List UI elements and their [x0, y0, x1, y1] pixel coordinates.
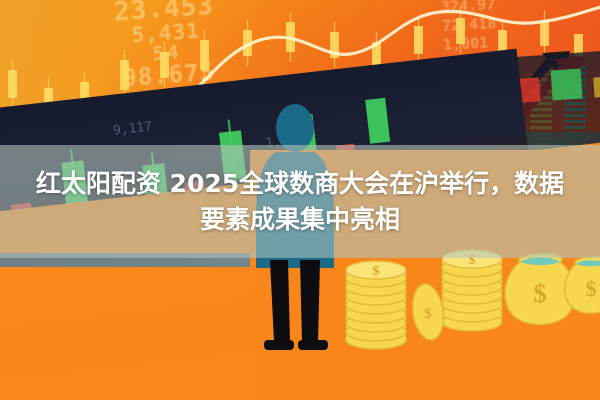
- headline-line-1: 红太阳配资 2025全球数商大会在沪举行，数据: [36, 167, 564, 201]
- svg-text:$: $: [424, 306, 432, 322]
- coin-stack: $: [442, 250, 502, 331]
- coin-stack: $: [346, 261, 406, 349]
- headline: 红太阳配资 2025全球数商大会在沪举行，数据 要素成果集中亮相: [0, 145, 600, 258]
- svg-text:$: $: [586, 276, 597, 301]
- svg-text:9,117: 9,117: [112, 119, 153, 138]
- svg-text:$: $: [534, 279, 547, 308]
- headline-line-2: 要素成果集中亮相: [200, 203, 400, 237]
- money-bag: $: [565, 257, 600, 313]
- svg-text:$: $: [373, 264, 380, 279]
- cover-image: 23.453 5,431 54 98.675 874.345 5,309 2,3…: [0, 0, 600, 400]
- coin: $: [409, 282, 447, 342]
- money-group: $ $ $ $: [330, 240, 600, 360]
